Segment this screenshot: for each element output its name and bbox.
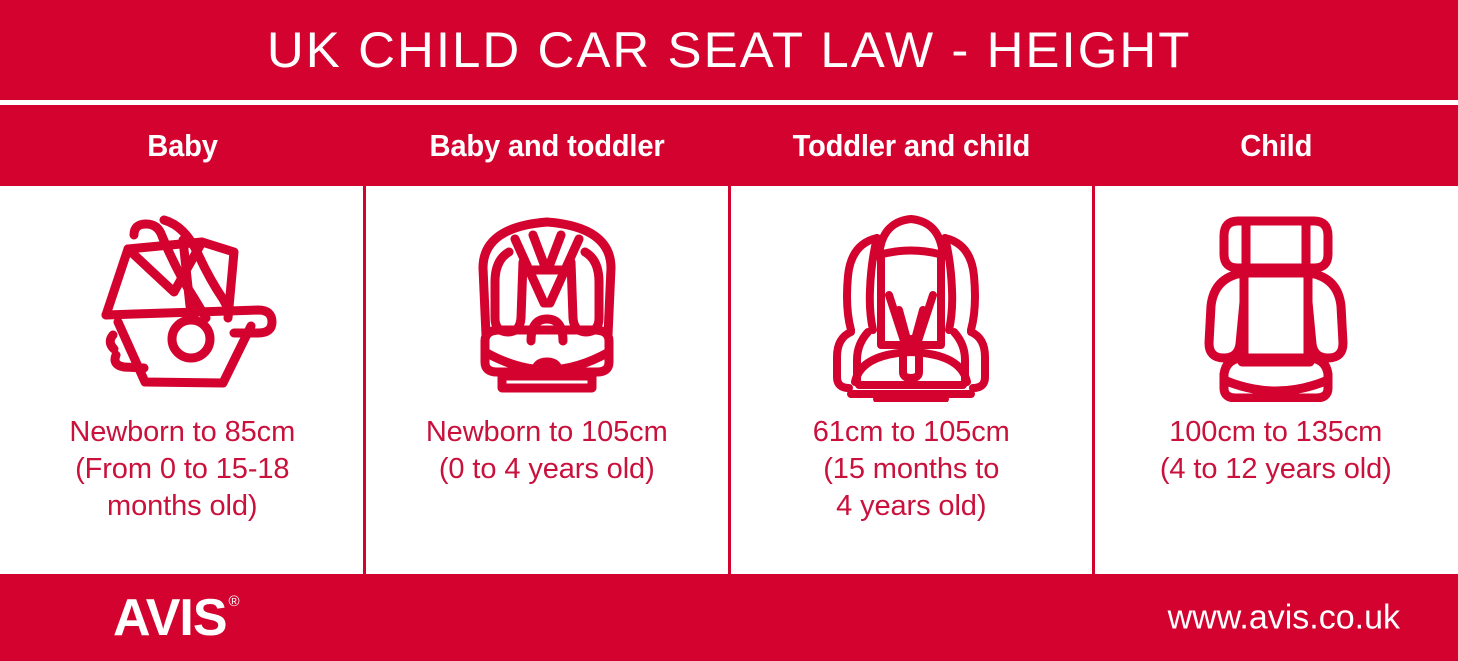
column-header-toddler-and-child: Toddler and child [729,105,1094,186]
toddler-car-seat-icon [811,186,1011,414]
column-header-label: Baby and toddler [429,128,664,164]
harness-car-seat-icon [447,186,647,414]
columns-body: Newborn to 85cm (From 0 to 15-18 months … [0,186,1458,574]
title-band: UK CHILD CAR SEAT LAW - HEIGHT [0,0,1458,100]
column-baby-and-toddler: Newborn to 105cm (0 to 4 years old) [365,186,730,574]
avis-logo[interactable]: AVIS ® [113,592,240,644]
column-caption: Newborn to 85cm (From 0 to 15-18 months … [61,414,303,525]
avis-logo-wordmark: AVIS [113,592,227,644]
column-header-label: Toddler and child [793,128,1030,164]
column-header-baby: Baby [0,105,365,186]
infant-carrier-seat-icon [82,186,282,414]
infographic-root: UK CHILD CAR SEAT LAW - HEIGHT Baby Baby… [0,0,1458,661]
column-caption: 61cm to 105cm (15 months to 4 years old) [805,414,1018,525]
column-header-label: Child [1240,128,1312,164]
column-toddler-and-child: 61cm to 105cm (15 months to 4 years old) [729,186,1094,574]
column-header-child: Child [1094,105,1458,186]
page-title: UK CHILD CAR SEAT LAW - HEIGHT [267,25,1192,75]
column-baby: Newborn to 85cm (From 0 to 15-18 months … [0,186,365,574]
column-header-band: Baby Baby and toddler Toddler and child … [0,105,1458,186]
column-header-baby-and-toddler: Baby and toddler [365,105,730,186]
column-caption: Newborn to 105cm (0 to 4 years old) [418,414,676,488]
footer-website-url[interactable]: www.avis.co.uk [1168,598,1400,637]
footer-band: AVIS ® www.avis.co.uk [0,574,1458,661]
column-header-label: Baby [147,128,218,164]
column-child: 100cm to 135cm (4 to 12 years old) [1094,186,1458,574]
column-caption: 100cm to 135cm (4 to 12 years old) [1152,414,1400,488]
registered-trademark-icon: ® [229,594,240,609]
high-back-booster-seat-icon [1176,186,1376,414]
